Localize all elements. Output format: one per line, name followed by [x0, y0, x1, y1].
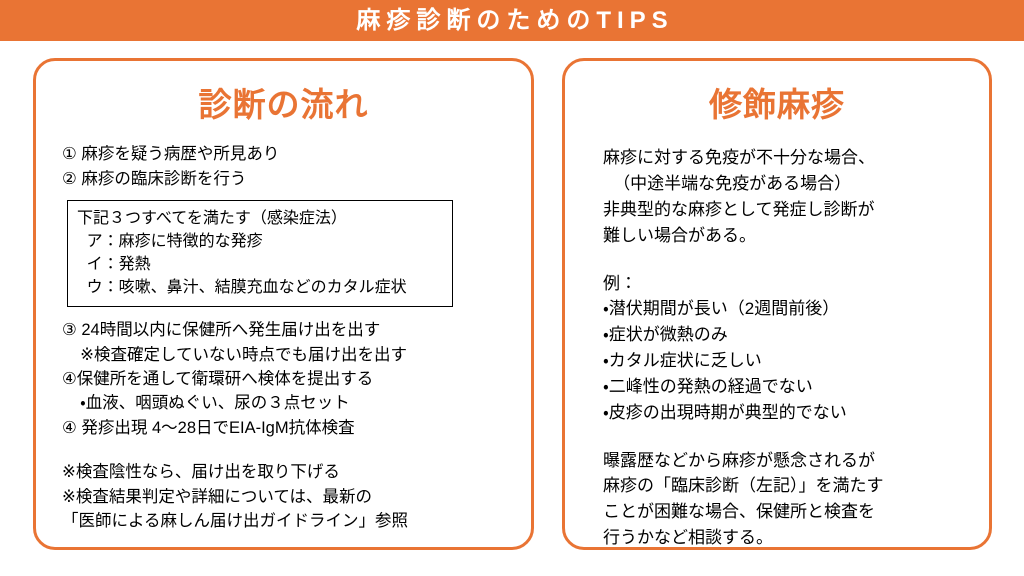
- definition-line-3: 非典型的な麻疹として発症し診断が: [603, 197, 989, 223]
- examples-label: 例：: [603, 271, 989, 297]
- note-2: ※検査結果判定や詳細については、最新の: [62, 485, 531, 509]
- examples-section: 例： ・潜伏期間が長い（2週間前後） ・症状が微熱のみ ・カタル症状に乏しい ・…: [603, 271, 989, 426]
- slide-root: 麻疹診断のためのTIPS 診断の流れ ① 麻疹を疑う病歴や所見あり ② 麻疹の臨…: [0, 0, 1024, 576]
- card-title-modified-measles: 修飾麻疹: [565, 87, 989, 123]
- note-1: ※検査陰性なら、届け出を取り下げる: [62, 460, 531, 484]
- paragraph-definition: 麻疹に対する免疫が不十分な場合、 （中途半端な免疫がある場合） 非典型的な麻疹と…: [603, 145, 989, 248]
- flow-step-2: ② 麻疹の臨床診断を行う: [62, 167, 531, 191]
- criteria-heading: 下記３つすべてを満たす（感染症法）: [77, 207, 443, 230]
- note-3: 「医師による麻しん届け出ガイドライン」参照: [62, 509, 531, 533]
- consultation-line-1: 曝露歴などから麻疹が懸念されるが: [603, 448, 989, 474]
- definition-line-4: 難しい場合がある。: [603, 223, 989, 249]
- list-item: ・潜伏期間が長い（2週間前後）: [603, 296, 989, 322]
- criteria-item-b: イ：発熱: [77, 253, 443, 276]
- list-item: ・カタル症状に乏しい: [603, 348, 989, 374]
- flow-step-3-note: ※検査確定していない時点でも届け出を出す: [62, 343, 531, 367]
- flow-step-4: ④保健所を通して衛環研へ検体を提出する: [62, 367, 531, 391]
- flow-step-4-detail: ・血液、咽頭ぬぐい、尿の３点セット: [62, 391, 531, 415]
- header-bar: 麻疹診断のためのTIPS: [0, 0, 1024, 41]
- consultation-line-2: 麻疹の「臨床診断（左記）」を満たす: [603, 473, 989, 499]
- consultation-line-3: ことが困難な場合、保健所と検査を: [603, 499, 989, 525]
- card-title-diagnosis-flow: 診断の流れ: [36, 87, 531, 123]
- flow-step-3: ③ 24時間以内に保健所へ発生届け出を出す: [62, 318, 531, 342]
- list-item: ・二峰性の発熱の経過でない: [603, 374, 989, 400]
- definition-line-2: （中途半端な免疫がある場合）: [603, 171, 989, 197]
- flow-step-4b: ④ 発疹出現 4〜28日でEIA-IgM抗体検査: [62, 416, 531, 440]
- page-title: 麻疹診断のためのTIPS: [350, 9, 673, 33]
- card-modified-measles: 修飾麻疹 麻疹に対する免疫が不十分な場合、 （中途半端な免疫がある場合） 非典型…: [562, 58, 992, 550]
- examples-list: ・潜伏期間が長い（2週間前後） ・症状が微熱のみ ・カタル症状に乏しい ・二峰性…: [603, 296, 989, 425]
- paragraph-consultation: 曝露歴などから麻疹が懸念されるが 麻疹の「臨床診断（左記）」を満たす ことが困難…: [603, 448, 989, 551]
- modified-measles-body: 麻疹に対する免疫が不十分な場合、 （中途半端な免疫がある場合） 非典型的な麻疹と…: [565, 145, 989, 551]
- diagnosis-flow-body: ① 麻疹を疑う病歴や所見あり ② 麻疹の臨床診断を行う 下記３つすべてを満たす（…: [36, 142, 531, 533]
- consultation-line-4: 行うかなど相談する。: [603, 525, 989, 551]
- card-diagnosis-flow: 診断の流れ ① 麻疹を疑う病歴や所見あり ② 麻疹の臨床診断を行う 下記３つすべ…: [33, 58, 534, 550]
- diagnosis-notes: ※検査陰性なら、届け出を取り下げる ※検査結果判定や詳細については、最新の 「医…: [62, 460, 531, 533]
- criteria-box: 下記３つすべてを満たす（感染症法） ア：麻疹に特徴的な発疹 イ：発熱 ウ：咳嗽、…: [67, 200, 453, 307]
- list-item: ・皮疹の出現時期が典型的でない: [603, 400, 989, 426]
- flow-step-1: ① 麻疹を疑う病歴や所見あり: [62, 142, 531, 166]
- criteria-item-a: ア：麻疹に特徴的な発疹: [77, 230, 443, 253]
- definition-line-1: 麻疹に対する免疫が不十分な場合、: [603, 145, 989, 171]
- criteria-item-c: ウ：咳嗽、鼻汁、結膜充血などのカタル症状: [77, 276, 443, 299]
- list-item: ・症状が微熱のみ: [603, 322, 989, 348]
